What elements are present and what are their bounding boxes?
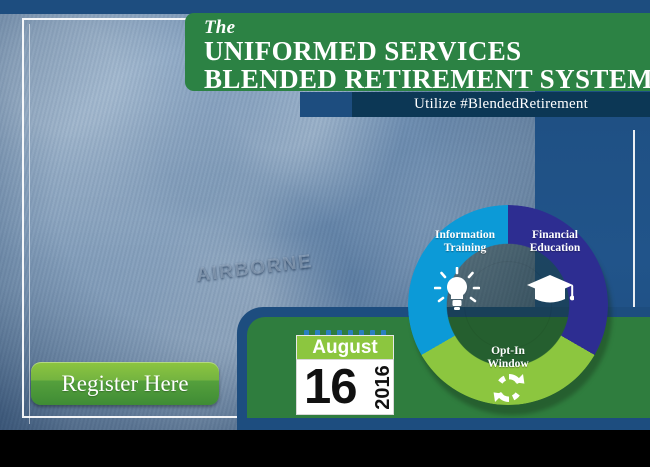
header-banner: The UNIFORMED SERVICES BLENDED RETIREMEN… (185, 13, 650, 91)
white-frame-inner-line (29, 24, 30, 424)
event-date-calendar: August 16 2016 (296, 335, 394, 415)
donut-label-financial-education: Financial Education (512, 229, 598, 255)
tagline-bar: Utilize #BlendedRetirement (352, 92, 650, 117)
lightbulb-icon (434, 267, 480, 320)
white-accent-line-right (633, 130, 635, 330)
sync-arrows-icon (492, 371, 526, 410)
donut-label-information-training: Information Training (422, 229, 508, 255)
brs-components-donut-chart: Information Training Financial Education… (408, 205, 608, 405)
header-title-line-2: BLENDED RETIREMENT SYSTEM (204, 66, 650, 94)
calendar-month: August (296, 335, 394, 359)
bottom-panel-rule (237, 423, 650, 430)
header-title-line-1: UNIFORMED SERVICES (204, 38, 650, 66)
top-navy-strip (0, 0, 650, 14)
register-here-button[interactable]: Register Here (31, 362, 219, 405)
poster-canvas: AIRBORNE The UNIFORMED SERVICES BLENDED … (0, 0, 650, 467)
tagline-bar-backing (300, 92, 352, 117)
register-button-label: Register Here (61, 371, 188, 397)
header-eyebrow: The (204, 18, 650, 38)
artwork-area: AIRBORNE The UNIFORMED SERVICES BLENDED … (0, 0, 650, 430)
donut-label-opt-in-window: Opt-In Window (465, 345, 551, 371)
calendar-year: 2016 (371, 365, 394, 410)
tagline-text: Utilize #BlendedRetirement (414, 96, 588, 113)
graduation-cap-icon (526, 273, 574, 312)
calendar-body: 16 2016 (296, 359, 394, 415)
calendar-day: 16 (304, 363, 357, 412)
